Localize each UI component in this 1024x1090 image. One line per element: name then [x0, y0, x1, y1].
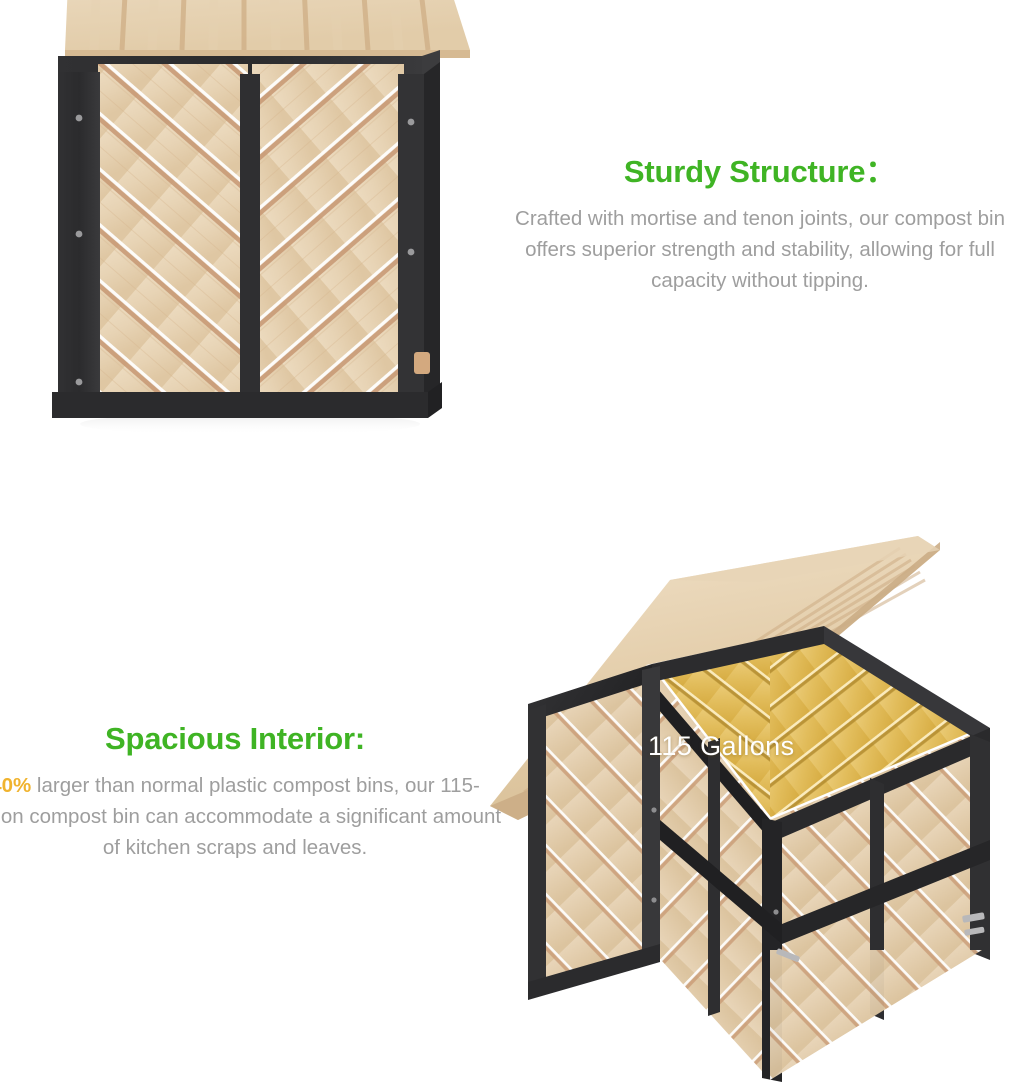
- product-feature-page: Sturdy Structure： Crafted with mortise a…: [0, 0, 1024, 1072]
- heading-spacious-interior: Spacious Interior:: [0, 722, 505, 756]
- highlight-percentage: 40%: [0, 774, 31, 797]
- closed-compost-bin-image: [10, 0, 480, 522]
- section-sturdy-structure: Sturdy Structure： Crafted with mortise a…: [0, 0, 1024, 530]
- text-block-sturdy-structure: Sturdy Structure： Crafted with mortise a…: [490, 155, 1024, 297]
- heading-sturdy-structure: Sturdy Structure：: [490, 155, 1024, 189]
- body-spacious-interior-text: larger than normal plastic compost bins,…: [0, 774, 501, 859]
- bin-lid: [65, 0, 470, 58]
- capacity-overlay-label: 115 Gallons: [648, 731, 795, 762]
- body-sturdy-structure: Crafted with mortise and tenon joints, o…: [490, 203, 1024, 296]
- body-spacious-interior: 40% larger than normal plastic compost b…: [0, 770, 505, 863]
- open-compost-bin-image: [470, 520, 1024, 1090]
- text-block-spacious-interior: Spacious Interior: 40% larger than norma…: [0, 722, 505, 864]
- bin-frame: [52, 50, 442, 418]
